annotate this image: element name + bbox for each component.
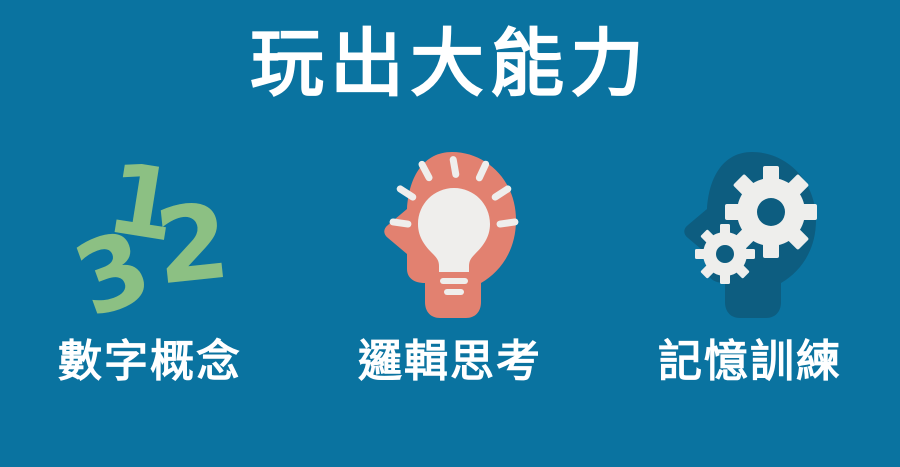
head-gears-icon <box>660 150 840 322</box>
feature-card-row: 1 2 3 數字概念 <box>0 150 900 420</box>
page-title: 玩出大能力 <box>0 22 900 106</box>
feature-card-label-memory-training: 記憶訓練 <box>600 336 900 388</box>
feature-card-logical-thinking[interactable]: 邏輯思考 <box>300 150 600 420</box>
lightbulb-thread-1 <box>440 278 468 284</box>
head-gears-svg <box>674 150 826 322</box>
head-lightbulb-svg <box>374 150 526 322</box>
feature-card-label-number-concept: 數字概念 <box>0 336 300 388</box>
feature-card-number-concept[interactable]: 1 2 3 數字概念 <box>0 150 300 420</box>
poster-canvas: 玩出大能力 1 2 3 數字概念 <box>0 0 900 467</box>
lightbulb-thread-2 <box>444 289 464 295</box>
head-lightbulb-icon <box>360 150 540 322</box>
feature-card-memory-training[interactable]: 記憶訓練 <box>600 150 900 420</box>
feature-card-label-logical-thinking: 邏輯思考 <box>300 336 600 388</box>
numbers-123-icon: 1 2 3 <box>60 150 240 322</box>
number-glyph-two: 2 <box>151 189 234 300</box>
